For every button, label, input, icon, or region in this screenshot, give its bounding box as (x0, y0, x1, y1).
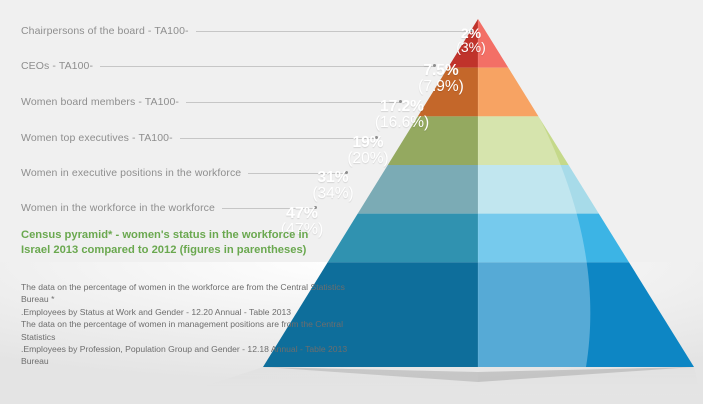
value-previous: (16.6%) (358, 115, 446, 131)
value-current: 17.2% (358, 99, 446, 115)
label-text: Women in the workforce in the workforce (21, 202, 215, 214)
pyramid-left-face-women-in-executive-positions (328, 214, 478, 263)
value-women-executive-positions: 31% (34%) (294, 170, 372, 202)
label-row-women-board-members[interactable]: Women board members - TA100- (21, 96, 401, 108)
label-text: Women top executives - TA100- (21, 132, 173, 144)
caption-line-1: Census pyramid* - women's status in the … (21, 229, 308, 241)
value-current: 7.5% (403, 63, 479, 79)
leader-line (196, 31, 472, 32)
label-row-ceos[interactable]: CEOs - TA100- (21, 60, 435, 72)
pyramid-left-face-women-top-executives (358, 165, 478, 214)
value-women-top-executives: 19% (20%) (329, 135, 407, 167)
caption: Census pyramid* - women's status in the … (21, 228, 321, 258)
label-text: CEOs - TA100- (21, 60, 93, 72)
value-ceos: 7.5% (7.9%) (403, 63, 479, 95)
label-row-chairpersons[interactable]: Chairpersons of the board - TA100- (21, 25, 472, 37)
value-current: 31% (294, 170, 372, 186)
footnotes: The data on the percentage of women in t… (21, 281, 361, 368)
value-previous: (34%) (294, 186, 372, 202)
label-row-women-top-executives[interactable]: Women top executives - TA100- (21, 132, 377, 144)
value-women-board-members: 17.2% (16.6%) (358, 99, 446, 131)
footnote-line-2: .Employees by Status at Work and Gender … (21, 306, 361, 318)
label-text: Women board members - TA100- (21, 96, 179, 108)
value-current: 47% (262, 206, 342, 222)
value-previous: (7.9%) (403, 79, 479, 95)
value-chairpersons-of-the-board: 2% (3%) (441, 26, 501, 55)
leader-line (100, 66, 435, 67)
footnote-line-1: The data on the percentage of women in t… (21, 281, 361, 306)
value-current: 2% (441, 26, 501, 40)
footnote-line-4: .Employees by Profession, Population Gro… (21, 343, 361, 368)
label-text: Chairpersons of the board - TA100- (21, 25, 189, 37)
caption-line-2: Israel 2013 compared to 2012 (figures in… (21, 243, 321, 258)
label-text: Women in executive positions in the work… (21, 167, 241, 179)
value-previous: (20%) (329, 151, 407, 167)
footnote-line-3: The data on the percentage of women in m… (21, 318, 361, 343)
value-previous: (3%) (441, 40, 501, 54)
value-current: 19% (329, 135, 407, 151)
infographic-canvas: Chairpersons of the board - TA100- CEOs … (0, 0, 703, 404)
